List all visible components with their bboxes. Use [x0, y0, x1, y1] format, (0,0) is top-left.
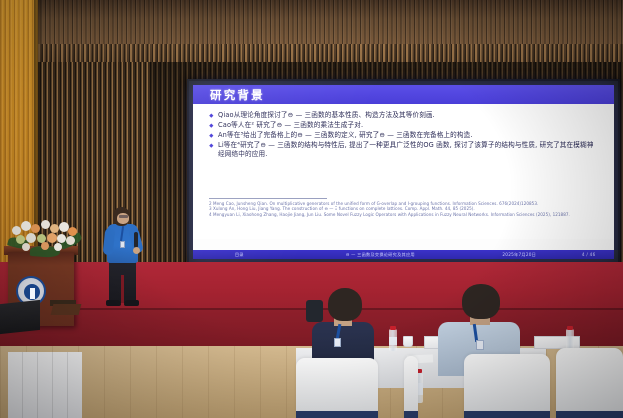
seal-emblem-mark: [30, 288, 35, 299]
chair-skirt-band: [404, 411, 418, 418]
flower: [54, 243, 62, 251]
flower: [22, 243, 30, 251]
chair-back: [296, 358, 378, 418]
paper-cup: [403, 336, 413, 347]
slide-status-title: ⊖ — 三函数及交换论研究及其应用: [286, 252, 475, 258]
slide-status-bar: 目录 ⊖ — 三函数及交换论研究及其应用 2025年7月20日 4 / 46: [193, 250, 614, 259]
attendee-right-head: [462, 284, 500, 319]
footnote-item: 4 Mengyuan Li, Xiaohong Zhang, Haojie Ji…: [209, 212, 602, 217]
bottle-cap: [567, 326, 573, 330]
footnote-divider: [209, 198, 327, 199]
attendee-right-badge: [476, 340, 484, 350]
floral-arrangement: [8, 212, 82, 258]
chair-back: [464, 354, 550, 418]
flower: [31, 224, 40, 233]
slide-footnotes: 2 Meng Cao, Junsheng Qian. On multiplica…: [209, 198, 602, 217]
slide-bullet: Cao等人在² 研究了⊖ — 三函数的乘法生成子对.: [209, 121, 600, 130]
stage-monitor-speaker: [0, 300, 40, 334]
slide-status-page: 4 / 46: [563, 252, 614, 257]
skirted-table: [8, 352, 82, 418]
flower: [21, 221, 31, 231]
chair-back: [556, 348, 623, 418]
presentation-screen: 研究背景 Qiao从理论角度探讨了⊖ — 三函数的基本性质、构造方法及其等价刻画…: [187, 79, 620, 265]
stage-step: [51, 304, 82, 315]
flower: [41, 220, 50, 229]
glasses-icon: [119, 215, 128, 218]
conference-hall-photo: 研究背景 Qiao从理论角度探讨了⊖ — 三函数的基本性质、构造方法及其等价刻画…: [0, 0, 623, 418]
attendee-bag: [306, 300, 323, 322]
flower: [47, 233, 57, 243]
flower: [41, 242, 49, 250]
microphone-icon: [134, 232, 138, 248]
slide-status-date: 2025年7月20日: [475, 252, 563, 258]
flower: [66, 236, 75, 245]
slide: 研究背景 Qiao从理论角度探讨了⊖ — 三函数的基本性质、构造方法及其等价刻画…: [193, 85, 614, 259]
bottle-cap: [390, 326, 396, 330]
flower: [12, 226, 21, 235]
flower: [50, 224, 59, 233]
flower: [68, 227, 77, 236]
attendee-left-head: [328, 288, 362, 321]
bottle-label: [389, 337, 397, 345]
slide-title: 研究背景: [193, 87, 265, 103]
slide-body: Qiao从理论角度探讨了⊖ — 三函数的基本性质、构造方法及其等价刻画. Cao…: [193, 104, 614, 239]
chair-back: [404, 356, 418, 418]
chair-skirt-band: [464, 411, 550, 418]
presenter-shoe-right: [124, 300, 139, 306]
chair-skirt-band: [556, 411, 623, 418]
slide-bullet: An等在³给出了完备格上的⊖ — 三函数的定义, 研究了⊖ — 三函数在完备格上…: [209, 131, 600, 140]
chair-skirt-band: [296, 411, 378, 418]
presenter-hand: [133, 247, 140, 254]
attendee-left-badge: [334, 338, 341, 347]
slide-bullet: Qiao从理论角度探讨了⊖ — 三函数的基本性质、构造方法及其等价刻画.: [209, 111, 600, 120]
slide-status-left: 目录: [193, 252, 286, 258]
slide-bullet: Li等在⁴研究了⊖ — 三函数的结构与特性后, 提出了一种更具广泛性的OG 函数…: [209, 141, 600, 158]
presenter-badge: [120, 241, 125, 248]
presenter-shoe-left: [106, 300, 121, 306]
slide-bullet-list: Qiao从理论角度探讨了⊖ — 三函数的基本性质、构造方法及其等价刻画. Cao…: [209, 111, 600, 158]
flower: [26, 233, 36, 243]
slide-title-bar: 研究背景: [193, 85, 614, 104]
wall-slats-upper: [0, 0, 623, 48]
flower: [57, 234, 66, 243]
presenter-leg-gap: [121, 275, 124, 303]
